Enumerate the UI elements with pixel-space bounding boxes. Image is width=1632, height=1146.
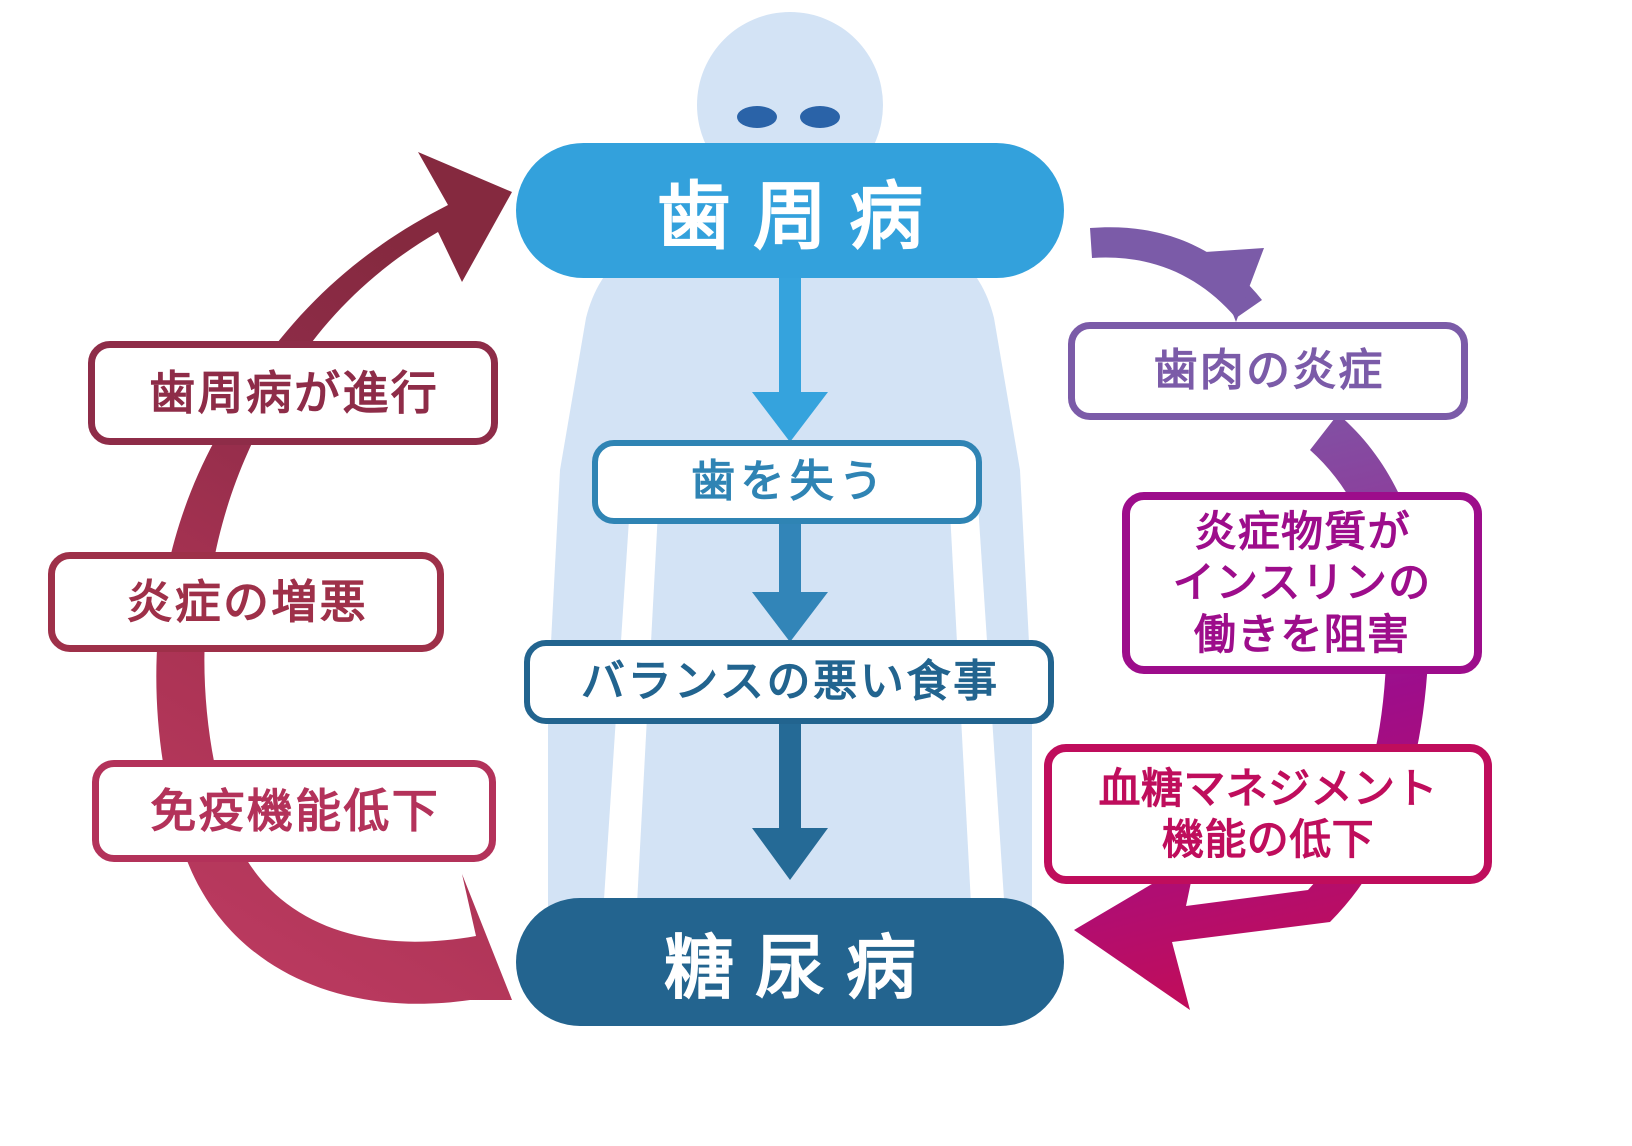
right-node-gingival-inflammation: 歯肉の炎症 (1068, 322, 1468, 420)
arrow-perio-to-tooth (752, 276, 828, 442)
left-node-perio-progress: 歯周病が進行 (88, 341, 498, 445)
diagram-canvas: 歯周病 糖尿病 歯を失う バランスの悪い食事 歯周病が進行 炎症の増悪 免疫機能… (0, 0, 1632, 1146)
arrow-diet-to-diabetes (752, 722, 828, 880)
left-node-immune-decline: 免疫機能低下 (92, 760, 496, 862)
periodontal-disease-title: 歯周病 (516, 143, 1064, 278)
diabetes-title: 糖尿病 (516, 898, 1064, 1026)
left-node-inflammation-worsens: 炎症の増悪 (48, 552, 444, 652)
right-node-glucose-management-decline: 血糖マネジメント 機能の低下 (1044, 744, 1492, 884)
arrow-tooth-to-diet (752, 522, 828, 642)
right-node-insulin-inhibition: 炎症物質が インスリンの 働きを阻害 (1122, 492, 1482, 674)
center-node-lose-teeth: 歯を失う (592, 440, 982, 524)
center-node-unbalanced-diet: バランスの悪い食事 (524, 640, 1054, 724)
